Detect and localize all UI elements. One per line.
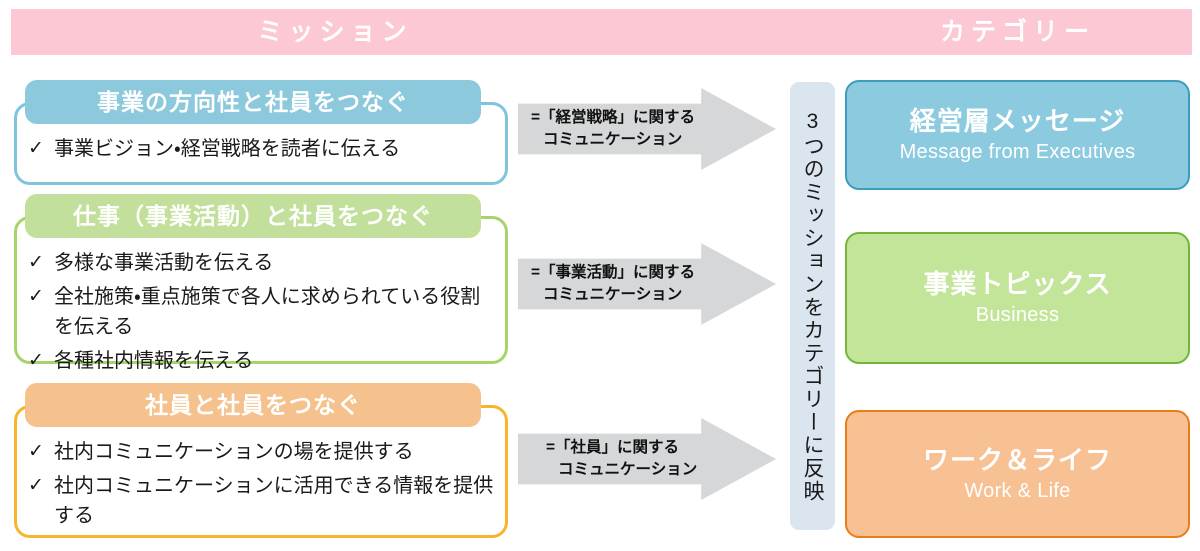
list-item-label: 全社施策・重点施策で各人に求められている役割を伝える [54, 282, 498, 342]
list-item: ✓ 多様な事業活動を伝える [28, 248, 498, 278]
list-item-label: 事業ビジョン・経営戦略を読者に伝える [54, 134, 498, 164]
check-icon: ✓ [28, 346, 54, 376]
mission-title-pill-1: 事業の方向性と社員をつなぐ [25, 80, 481, 124]
list-item: ✓ 全社施策・重点施策で各人に求められている役割を伝える [28, 282, 498, 342]
category-title-ja: 事業トピックス [923, 268, 1111, 301]
check-icon: ✓ [28, 282, 54, 312]
list-item-label: 社内コミュニケーションの場を提供する [54, 437, 498, 467]
arrow-label-3: =「社員」に関する コミュニケーション [546, 437, 697, 481]
arrow-label-3-line2: コミュニケーション [546, 459, 697, 481]
arrow-label-1: =「経営戦略」に関する コミュニケーション [531, 107, 695, 151]
list-item-label: 各種社内情報を伝える [54, 346, 498, 376]
check-icon: ✓ [28, 471, 54, 501]
category-box-business[interactable]: 事業トピックス Business [845, 232, 1190, 364]
list-item-label: 社内コミュニケーションに活用できる情報を提供する [54, 471, 498, 531]
list-item: ✓ 社内コミュニケーションの場を提供する [28, 437, 498, 467]
mission-bullets-3: ✓ 社内コミュニケーションの場を提供する ✓ 社内コミュニケーションに活用できる… [28, 437, 498, 535]
reflect-bar-label: 3つのミッションをカテゴリーに反映 [790, 82, 835, 530]
mission-group-3: 社員と社員をつなぐ ✓ 社内コミュニケーションの場を提供する ✓ 社内コミュニケ… [14, 383, 508, 538]
arrow-label-1-line2: コミュニケーション [531, 129, 695, 151]
check-icon: ✓ [28, 134, 54, 164]
check-icon: ✓ [28, 248, 54, 278]
diagram-canvas: ミッション カテゴリー 事業の方向性と社員をつなぐ ✓ 事業ビジョン・経営戦略を… [0, 0, 1200, 551]
category-box-executives[interactable]: 経営層メッセージ Message from Executives [845, 80, 1190, 190]
mission-group-1: 事業の方向性と社員をつなぐ ✓ 事業ビジョン・経営戦略を読者に伝える [14, 80, 508, 185]
category-title-en: Work & Life [964, 479, 1070, 504]
category-column-header: カテゴリー [845, 9, 1190, 55]
mission-column-header: ミッション [150, 9, 520, 55]
arrow-label-2-line2: コミュニケーション [531, 284, 695, 306]
reflect-bar: 3つのミッションをカテゴリーに反映 [790, 82, 835, 530]
list-item-label: 多様な事業活動を伝える [54, 248, 498, 278]
mission-bullets-1: ✓ 事業ビジョン・経営戦略を読者に伝える [28, 134, 498, 168]
category-title-ja: ワーク＆ライフ [923, 444, 1112, 477]
list-item: ✓ 事業ビジョン・経営戦略を読者に伝える [28, 134, 498, 164]
mission-group-2: 仕事（事業活動）と社員をつなぐ ✓ 多様な事業活動を伝える ✓ 全社施策・重点施… [14, 194, 508, 364]
arrow-label-2-line1: =「事業活動」に関する [531, 262, 695, 284]
category-box-worklife[interactable]: ワーク＆ライフ Work & Life [845, 410, 1190, 538]
arrow-label-1-line1: =「経営戦略」に関する [531, 107, 695, 129]
mission-title-pill-2: 仕事（事業活動）と社員をつなぐ [25, 194, 481, 238]
check-icon: ✓ [28, 437, 54, 467]
category-title-en: Business [976, 303, 1060, 328]
category-title-ja: 経営層メッセージ [910, 105, 1125, 138]
mission-title-pill-3: 社員と社員をつなぐ [25, 383, 481, 427]
mission-bullets-2: ✓ 多様な事業活動を伝える ✓ 全社施策・重点施策で各人に求められている役割を伝… [28, 248, 498, 380]
arrow-label-2: =「事業活動」に関する コミュニケーション [531, 262, 695, 306]
category-title-en: Message from Executives [900, 140, 1136, 165]
list-item: ✓ 社内コミュニケーションに活用できる情報を提供する [28, 471, 498, 531]
list-item: ✓ 各種社内情報を伝える [28, 346, 498, 376]
arrow-label-3-line1: =「社員」に関する [546, 437, 697, 459]
